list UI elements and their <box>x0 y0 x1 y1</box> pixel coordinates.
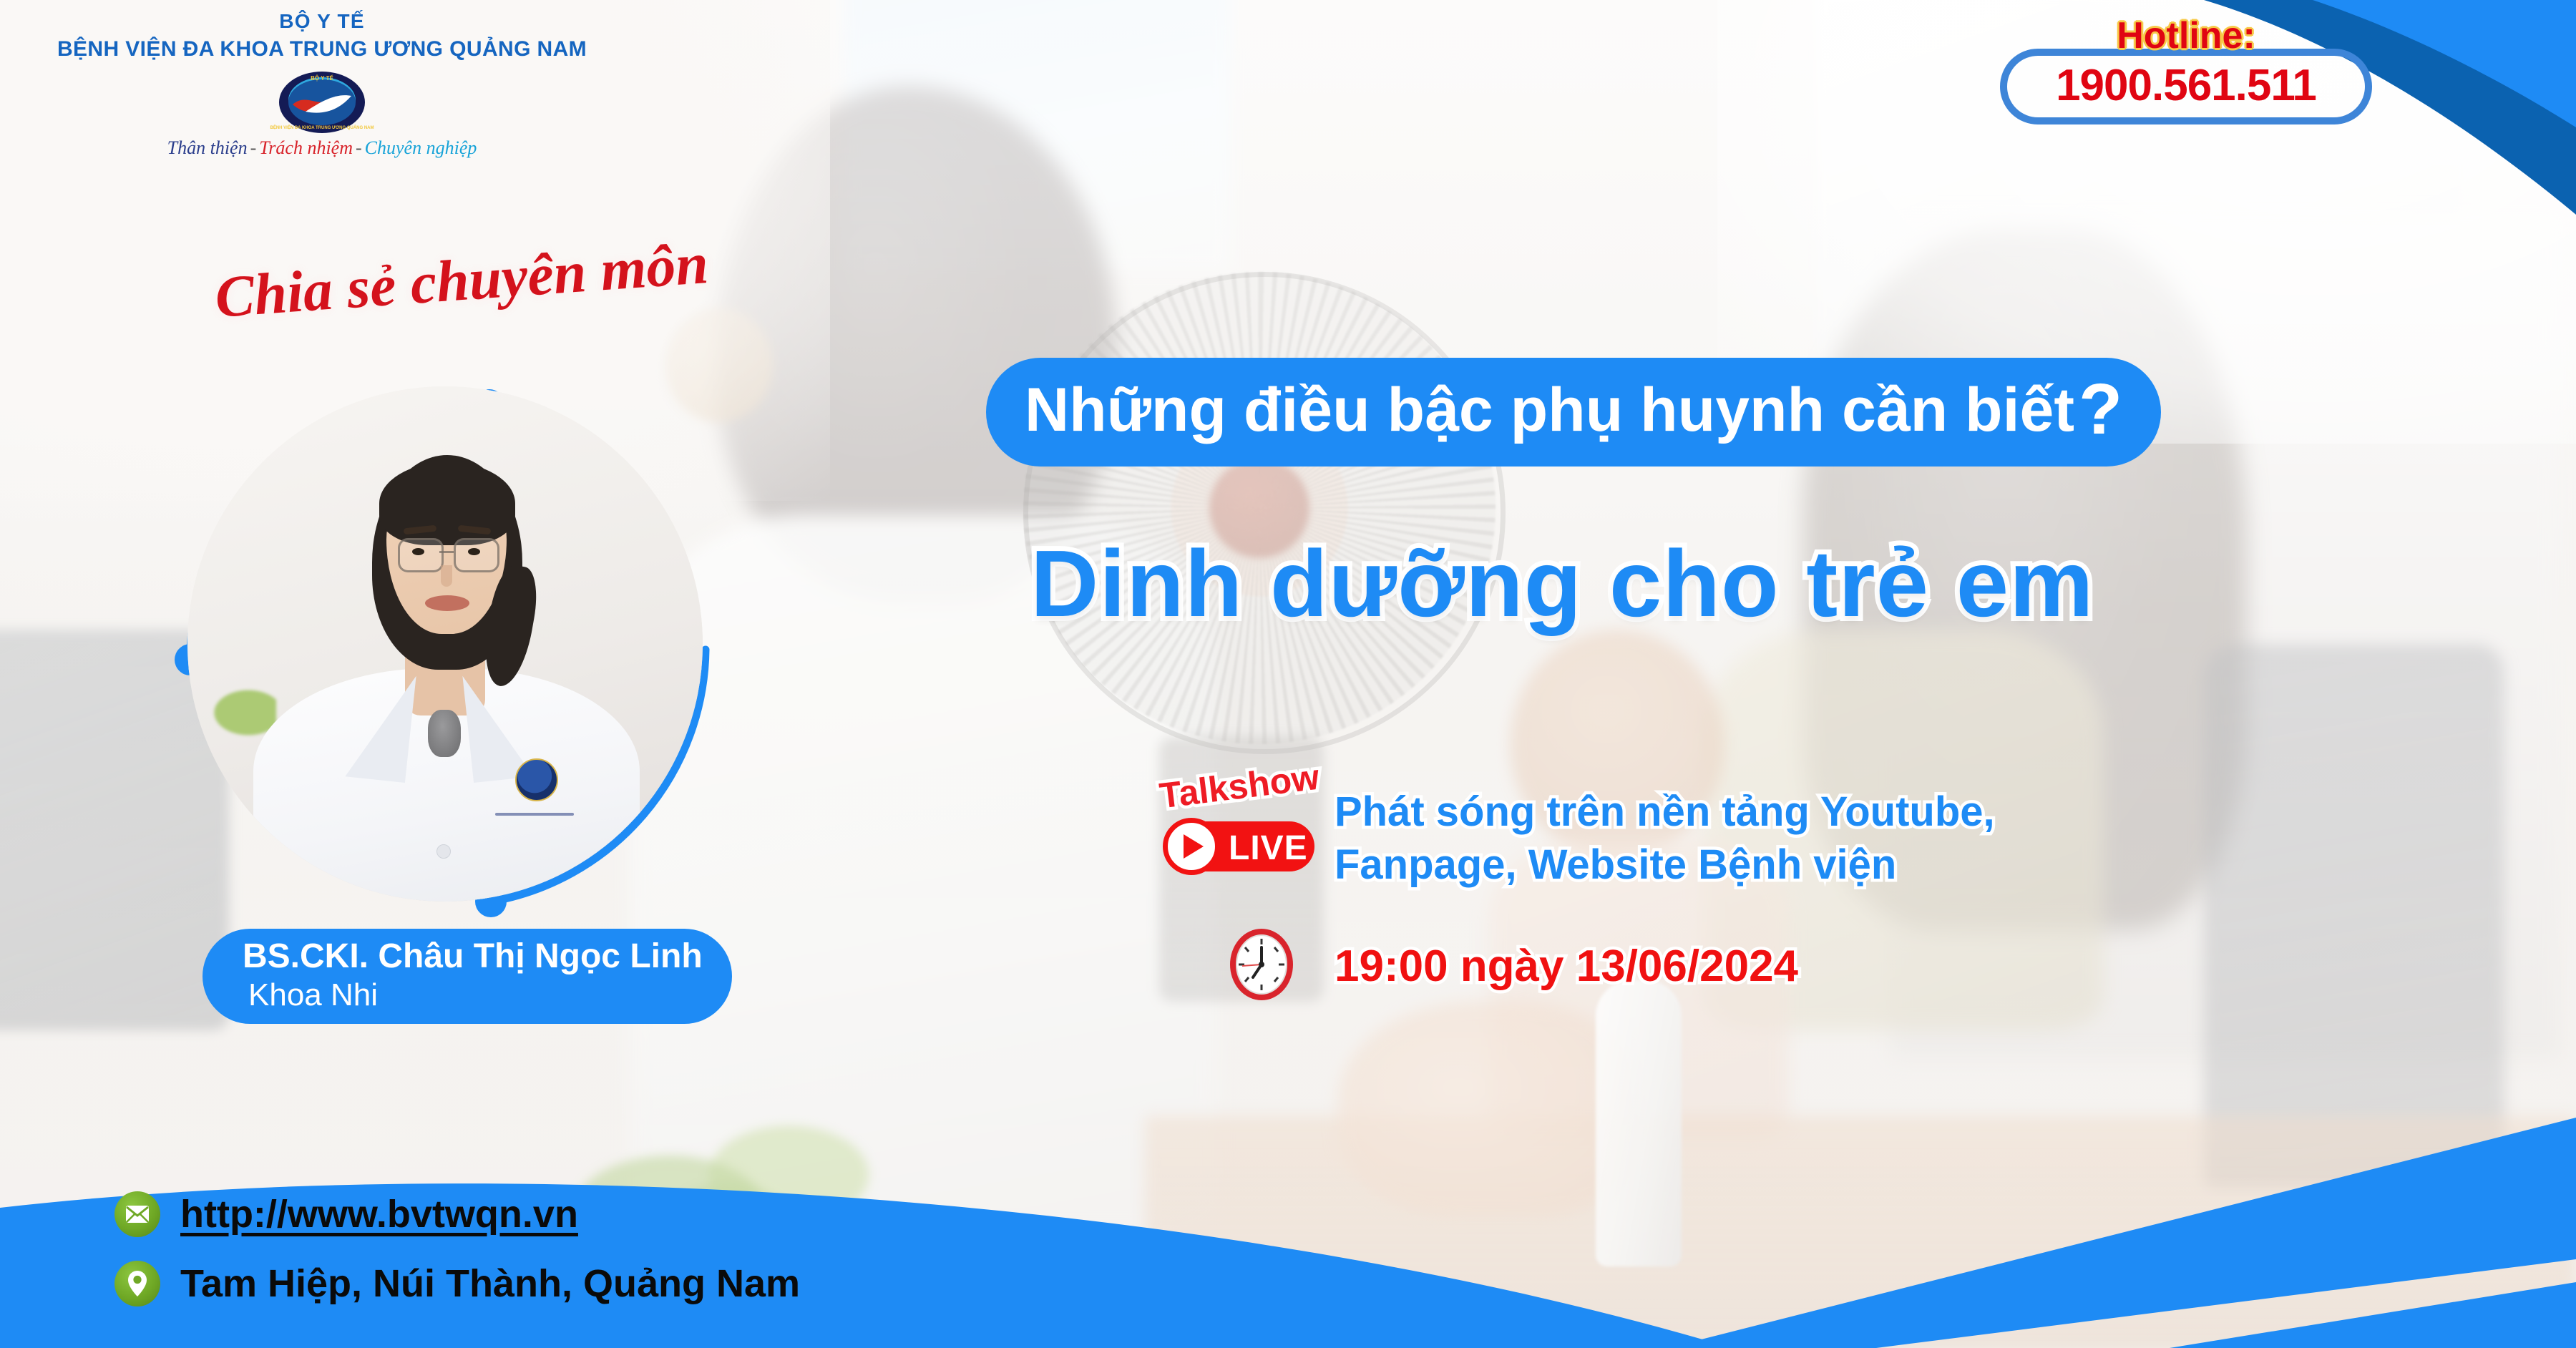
broadcast-channels: Phát sóng trên nền tảng Youtube, Fanpage… <box>1335 786 1995 892</box>
title-question-mark: ? <box>2074 369 2122 449</box>
footer-address-text: Tam Hiệp, Núi Thành, Quảng Nam <box>180 1261 800 1306</box>
title-question-pill: Những điều bậc phụ huynh cần biết? <box>986 358 2161 467</box>
speaker-department: Khoa Nhi <box>243 977 703 1012</box>
hotline-number[interactable]: 1900.561.511 <box>2000 60 2372 111</box>
hospital-badge-icon <box>515 758 558 801</box>
svg-text:BỘ Y TẾ: BỘ Y TẾ <box>311 74 333 82</box>
svg-text:BỆNH VIỆN ĐA KHOA TRUNG ƯƠNG Q: BỆNH VIỆN ĐA KHOA TRUNG ƯƠNG QUẢNG NAM <box>270 124 374 130</box>
footer-website-text[interactable]: http://www.bvtwqn.vn <box>180 1192 578 1236</box>
motto-part3: Chuyên nghiệp <box>365 137 477 158</box>
play-circle-icon <box>1163 818 1220 875</box>
title-question-text: Những điều bậc phụ huynh cần biết? <box>1025 373 2122 445</box>
footer-address-row: Tam Hiệp, Núi Thành, Quảng Nam <box>114 1261 800 1307</box>
ministry-title: BỘ Y TẾ <box>0 10 644 33</box>
motto-sep2: - <box>353 137 365 158</box>
live-badge: LIVE <box>1171 821 1314 871</box>
broadcast-datetime: 19:00 ngày 13/06/2024 <box>1335 941 1798 992</box>
poster-root: BỘ Y TẾ BỆNH VIỆN ĐA KHOA TRUNG ƯƠNG QUẢ… <box>0 0 2576 1348</box>
speaker-portrait-block <box>187 386 703 902</box>
motto-part1: Thân thiện <box>167 137 248 158</box>
footer-website-row[interactable]: http://www.bvtwqn.vn <box>114 1191 578 1237</box>
location-pin-icon <box>114 1261 160 1307</box>
live-label: LIVE <box>1229 829 1308 868</box>
speaker-nameplate: BS.CKI. Châu Thị Ngọc Linh Khoa Nhi <box>203 929 732 1024</box>
clock-icon <box>1229 929 1294 1000</box>
title-question-label: Những điều bậc phụ huynh cần biết <box>1025 376 2074 444</box>
hospital-title: BỆNH VIỆN ĐA KHOA TRUNG ƯƠNG QUẢNG NAM <box>0 37 644 62</box>
stethoscope-icon <box>428 710 461 757</box>
envelope-icon <box>114 1191 160 1237</box>
broadcast-line2: Fanpage, Website Bệnh viện <box>1335 839 1995 892</box>
speaker-name: BS.CKI. Châu Thị Ngọc Linh <box>243 937 703 976</box>
header-block: BỘ Y TẾ BỆNH VIỆN ĐA KHOA TRUNG ƯƠNG QUẢ… <box>0 10 644 159</box>
hotline-block[interactable]: 1900.561.511 Hotline: <box>2000 49 2372 124</box>
doctor-portrait-avatar <box>187 386 703 902</box>
hospital-emblem-icon: BỘ Y TẾ BỆNH VIỆN ĐA KHOA TRUNG ƯƠNG QUẢ… <box>261 72 383 133</box>
title-subject: Dinh dưỡng cho trẻ em <box>1030 529 2094 638</box>
broadcast-line1: Phát sóng trên nền tảng Youtube, <box>1335 786 1995 839</box>
hotline-label: Hotline: <box>2000 14 2372 57</box>
motto-sep1: - <box>248 137 260 158</box>
hospital-motto: Thân thiện-Trách nhiệm-Chuyên nghiệp <box>0 137 644 159</box>
motto-part2: Trách nhiệm <box>259 137 353 158</box>
